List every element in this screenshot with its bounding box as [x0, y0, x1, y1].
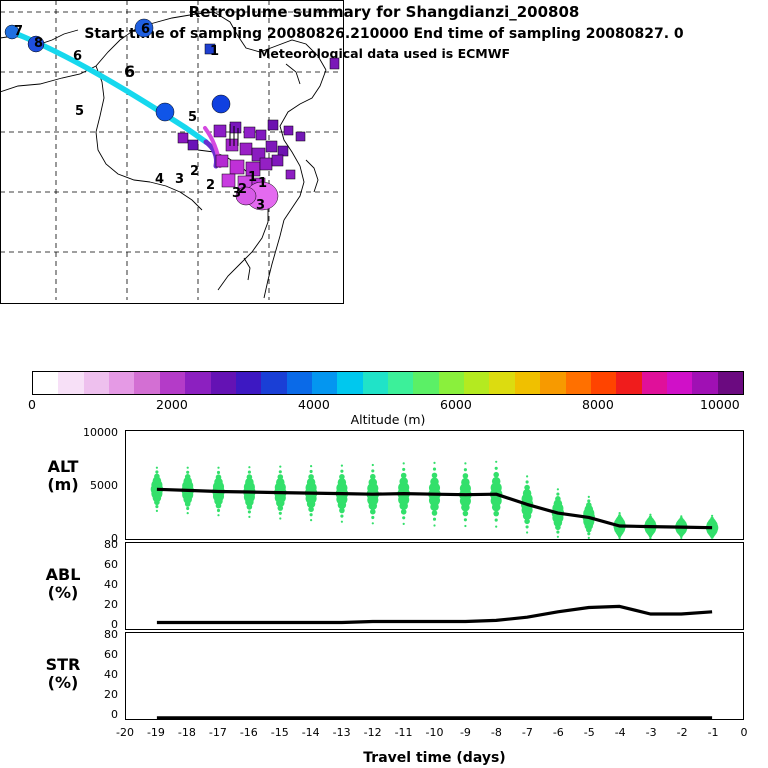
map-label: 8	[34, 36, 43, 51]
alt-scatter-dot	[401, 473, 407, 479]
abl-ytick: 20	[72, 598, 118, 611]
alt-scatter-dot	[279, 466, 281, 468]
alt-scatter-dot	[371, 469, 374, 472]
alt-scatter-dot	[587, 532, 590, 535]
str-ytick: 40	[72, 668, 118, 681]
colorbar-tick: 2000	[156, 397, 188, 412]
alt-scatter-dot	[557, 536, 559, 538]
map-label: 7	[14, 24, 23, 39]
alt-scatter-dot	[155, 505, 158, 508]
alt-scatter-dot	[248, 510, 251, 513]
colorbar-swatch	[287, 372, 312, 394]
alt-scatter-dot	[186, 507, 189, 510]
str-ytick: 60	[72, 648, 118, 661]
colorbar-swatch	[58, 372, 83, 394]
abl-line	[157, 606, 712, 622]
alt-scatter-dot	[526, 525, 529, 528]
colorbar-swatch	[84, 372, 109, 394]
alt-scatter-dot	[187, 512, 189, 514]
colorbar-swatch	[109, 372, 134, 394]
colorbar-tick: 0	[28, 397, 36, 412]
graticule	[0, 0, 340, 300]
map-label: 5	[75, 104, 84, 119]
alt-scatter-dot	[526, 531, 528, 533]
alt-scatter-dot	[433, 468, 436, 471]
alt-scatter-dot	[217, 514, 219, 516]
map-label: 5	[188, 110, 197, 125]
map-label: 2	[190, 164, 199, 179]
alt-scatter-dot	[185, 474, 191, 480]
alt-scatter-dot	[308, 474, 314, 480]
retroplume-map: 7 8 6 6 6 1 5 5 4 3 2 2 3 1 1 2 3	[0, 0, 344, 304]
alt-scatter-dot	[310, 513, 313, 516]
abl-ytick: 40	[72, 578, 118, 591]
x-axis-tick: -10	[422, 726, 448, 739]
alt-scatter-dot	[156, 467, 158, 469]
colorbar-tick: 6000	[440, 397, 472, 412]
alt-scatter-dot	[216, 474, 222, 480]
alt-scatter-dot	[464, 462, 466, 464]
x-axis-tick: -11	[391, 726, 417, 739]
alt-scatter-dot	[493, 511, 499, 517]
colorbar-swatch	[185, 372, 210, 394]
abl-panel	[125, 542, 744, 630]
colorbar-swatch	[33, 372, 58, 394]
alt-scatter-dot	[217, 467, 219, 469]
alt-scatter-dot	[339, 474, 345, 480]
alt-scatter-dot	[587, 499, 590, 502]
x-axis-tick: -9	[452, 726, 478, 739]
abl-plot	[126, 543, 743, 629]
alt-scatter-dot	[618, 514, 621, 517]
alt-scatter-dot	[372, 464, 374, 466]
alt-scatter-dot	[433, 524, 435, 526]
alt-scatter-dot	[680, 517, 683, 520]
alt-scatter-dot	[495, 467, 498, 470]
alt-scatter-dot	[402, 468, 405, 471]
alt-scatter-dot	[464, 518, 467, 521]
alt-scatter-dot	[340, 515, 343, 518]
alt-scatter-dot	[155, 470, 158, 473]
alt-scatter-dot	[586, 502, 592, 508]
colorbar-swatch	[211, 372, 236, 394]
alt-scatter-dot	[433, 462, 435, 464]
alt-scatter-dot	[310, 470, 313, 473]
alt-scatter-dot	[524, 485, 530, 491]
colorbar-swatch	[312, 372, 337, 394]
alt-scatter-dot	[403, 462, 405, 464]
map-label: 2	[206, 178, 215, 193]
x-axis-tick: -6	[545, 726, 571, 739]
alt-scatter-dot	[556, 493, 559, 496]
colorbar-group: 0 2000 4000 6000 8000 10000 Altitude (m)	[32, 371, 744, 395]
alt-scatter-dot	[461, 478, 470, 487]
colorbar-swatch	[388, 372, 413, 394]
colorbar-swatch	[134, 372, 159, 394]
colorbar-swatch	[616, 372, 641, 394]
x-axis-tick: -20	[112, 726, 138, 739]
alt-ytick: 10000	[72, 426, 118, 439]
map-label: 1	[210, 44, 219, 59]
alt-scatter-dot	[557, 488, 559, 490]
alt-scatter-dot	[371, 516, 374, 519]
alt-scatter-dot	[279, 512, 282, 515]
abl-ytick: 80	[72, 538, 118, 551]
colorbar-swatch	[160, 372, 185, 394]
colorbar-swatch	[718, 372, 743, 394]
alt-scatter-dot	[217, 471, 220, 474]
map-label: 3	[232, 186, 241, 201]
alt-ytick: 5000	[72, 479, 118, 492]
alt-scatter-dot	[492, 477, 501, 486]
alt-scatter-dot	[711, 517, 714, 520]
x-axis-tick: -19	[143, 726, 169, 739]
alt-scatter-dot	[464, 525, 466, 527]
colorbar-swatch	[642, 372, 667, 394]
map-label: 4	[155, 172, 164, 187]
alt-scatter-dot	[619, 538, 621, 539]
alt-scatter-dot	[555, 496, 561, 502]
colorbar-swatch	[337, 372, 362, 394]
map-label: 3	[175, 172, 184, 187]
x-axis-tick: -8	[483, 726, 509, 739]
alt-scatter-dot	[248, 471, 251, 474]
x-axis-tick: -5	[576, 726, 602, 739]
alt-scatter-dot	[370, 474, 376, 480]
alt-scatter-dot	[369, 478, 378, 487]
str-plot	[126, 633, 743, 719]
alt-scatter-dot	[432, 510, 438, 516]
alt-scatter-dot	[340, 470, 343, 473]
footprint-markers	[5, 19, 339, 210]
x-axis-tick: -1	[700, 726, 726, 739]
colorbar-swatch	[236, 372, 261, 394]
x-axis-tick: -15	[267, 726, 293, 739]
alt-scatter-dot	[156, 510, 158, 512]
map-label: 6	[73, 49, 82, 64]
colorbar-swatch	[413, 372, 438, 394]
alt-scatter-dot	[649, 514, 651, 516]
colorbar-tick: 4000	[298, 397, 330, 412]
alt-scatter-dot	[187, 467, 189, 469]
x-axis-tick: -2	[669, 726, 695, 739]
figure-root: Retroplume summary for Shangdianzi_20080…	[0, 0, 768, 768]
alt-scatter-dot	[278, 474, 284, 480]
map-graphics	[0, 0, 340, 300]
x-axis-tick: -4	[607, 726, 633, 739]
str-panel	[125, 632, 744, 720]
str-ytick: 80	[72, 628, 118, 641]
alt-scatter-dot	[399, 477, 408, 486]
map-label: 1	[248, 170, 257, 185]
altitude-colorbar	[32, 371, 744, 395]
alt-scatter-dot	[619, 512, 621, 514]
colorbar-swatch	[261, 372, 286, 394]
colorbar-swatch	[363, 372, 388, 394]
x-axis-tick: -16	[236, 726, 262, 739]
alt-panel	[125, 430, 744, 540]
map-label: 6	[141, 22, 150, 37]
str-ytick: 0	[72, 708, 118, 721]
colorbar-swatch	[489, 372, 514, 394]
alt-scatter-dot	[495, 526, 497, 528]
colorbar-title: Altitude (m)	[32, 412, 744, 427]
str-ytick: 20	[72, 688, 118, 701]
map-label: 6	[124, 62, 135, 81]
abl-ytick: 60	[72, 558, 118, 571]
colorbar-swatch	[667, 372, 692, 394]
alt-scatter-dot	[217, 509, 220, 512]
alt-scatter-dot	[433, 518, 436, 521]
alt-scatter-dot	[248, 466, 250, 468]
alt-scatter-dot	[310, 465, 312, 467]
alt-scatter-dot	[495, 519, 498, 522]
x-axis-title: Travel time (days)	[125, 750, 744, 766]
alt-scatter-dot	[680, 515, 682, 517]
colorbar-swatch	[515, 372, 540, 394]
alt-scatter-dot	[186, 471, 189, 474]
x-axis-tick: 0	[731, 726, 757, 739]
colorbar-swatch	[566, 372, 591, 394]
alt-scatter-dot	[463, 473, 469, 479]
alt-scatter-dot	[372, 522, 374, 524]
alt-scatter-dot	[495, 461, 497, 463]
alt-scatter-dot	[279, 470, 282, 473]
alt-scatter-dot	[310, 519, 312, 521]
alt-plot	[126, 431, 743, 539]
alt-scatter-dot	[493, 472, 499, 478]
alt-scatter-dot	[711, 515, 713, 517]
x-axis-tick: -7	[514, 726, 540, 739]
alt-scatter-dot	[248, 516, 250, 518]
alt-scatter-dot	[526, 475, 528, 477]
alt-scatter-dot	[649, 516, 652, 519]
x-axis-tick: -3	[638, 726, 664, 739]
alt-scatter-dot	[402, 516, 405, 519]
colorbar-tick: 10000	[700, 397, 740, 412]
alt-scatter-dot	[463, 511, 469, 517]
alt-scatter-dot	[432, 473, 438, 479]
colorbar-swatch	[439, 372, 464, 394]
x-axis-tick: -17	[205, 726, 231, 739]
alt-scatter-dot	[154, 474, 160, 480]
colorbar-swatch	[692, 372, 717, 394]
colorbar-swatch	[464, 372, 489, 394]
alt-scatter-dot	[247, 474, 253, 480]
alt-scatter-dot	[526, 480, 529, 483]
alt-scatter-dot	[464, 468, 467, 471]
x-axis-tick: -18	[174, 726, 200, 739]
alt-scatter-dot	[341, 465, 343, 467]
alt-scatter-dot	[279, 517, 281, 519]
map-label: 3	[256, 198, 265, 213]
alt-scatter-dot	[403, 523, 405, 525]
alt-scatter-dot	[588, 496, 590, 498]
x-axis-tick: -13	[329, 726, 355, 739]
alt-scatter-dot	[341, 521, 343, 523]
colorbar-tick: 8000	[582, 397, 614, 412]
map-label: 1	[258, 176, 267, 191]
x-axis-tick: -14	[298, 726, 324, 739]
colorbar-swatch	[540, 372, 565, 394]
alt-scatter-dot	[556, 531, 559, 534]
alt-scatter-dot	[430, 477, 439, 486]
alt-scatter-dot	[588, 537, 590, 539]
colorbar-swatch	[591, 372, 616, 394]
x-axis-tick: -12	[360, 726, 386, 739]
